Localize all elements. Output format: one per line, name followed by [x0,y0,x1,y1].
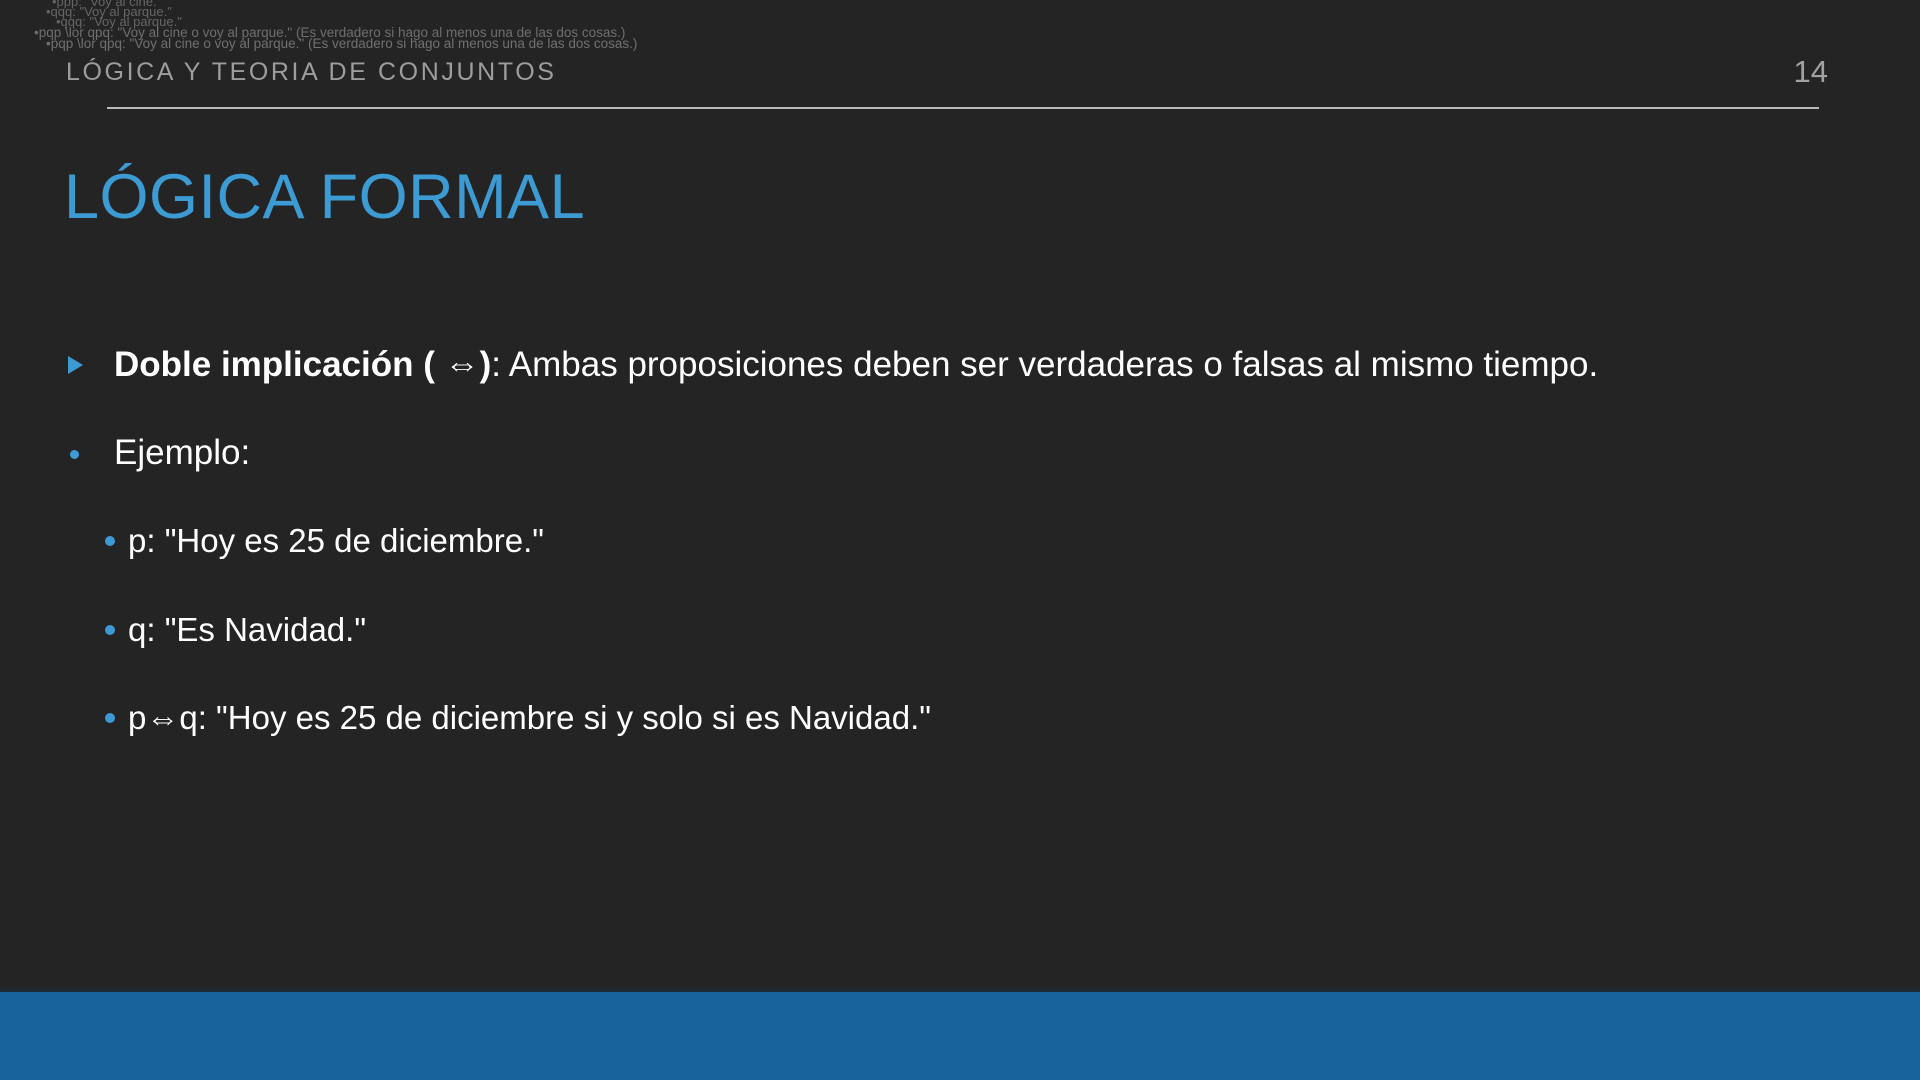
bullet-doble-rest: : Ambas proposiciones deben ser verdader… [491,345,1598,384]
ghost-line-5: •pqp \lor qpq: "Voy al cine o voy al par… [46,36,637,51]
list-item: p: "Hoy es 25 de diciembre." [0,519,1920,564]
slide-header: LÓGICA Y TEORIA DE CONJUNTOS 14 [0,58,1920,114]
ghost-line-1: •ppp: "Voy al cine." [52,0,161,9]
list-item: p⇔q: "Hoy es 25 de diciembre si y solo s… [0,696,1920,741]
small-round-bullet-icon [105,536,115,546]
example-text: p⇔q: "Hoy es 25 de diciembre si y solo s… [128,699,931,736]
example-text: p: "Hoy es 25 de diciembre." [128,522,544,559]
ghost-text-artifacts: •ppp: "Voy al cine." •qqq: "Voy al parqu… [0,0,1920,60]
slide: •ppp: "Voy al cine." •qqq: "Voy al parqu… [0,0,1920,1080]
example-text: q: "Es Navidad." [128,611,366,648]
examples-list: p: "Hoy es 25 de diciembre." q: "Es Navi… [0,519,1920,741]
header-section-title: LÓGICA Y TEORIA DE CONJUNTOS [66,58,557,87]
round-bullet-icon [70,450,79,459]
bullet-doble-implicacion: Doble implicación ( ⇔): Ambas proposicio… [0,340,1920,390]
ghost-line-4: •pqp \lor qpq: "Voy al cine o voy al par… [34,25,625,40]
page-title: LÓGICA FORMAL [64,166,585,229]
bottom-accent-bar [0,992,1920,1080]
slide-body: Doble implicación ( ⇔): Ambas proposicio… [0,340,1920,741]
bullet-doble-lead: Doble implicación ( ⇔) [114,345,491,384]
list-item: q: "Es Navidad." [0,608,1920,653]
bullet-ejemplo-label: Ejemplo: [114,433,250,472]
small-round-bullet-icon [105,713,115,723]
triangle-bullet-icon [68,356,83,374]
header-divider [107,107,1819,109]
bullet-ejemplo: Ejemplo: [0,428,1920,478]
ghost-line-2: •qqq: "Voy al parque." [46,4,172,19]
small-round-bullet-icon [105,625,115,635]
ghost-line-3: •qqq: "Voy al parque." [56,14,182,29]
page-number: 14 [1794,54,1828,90]
